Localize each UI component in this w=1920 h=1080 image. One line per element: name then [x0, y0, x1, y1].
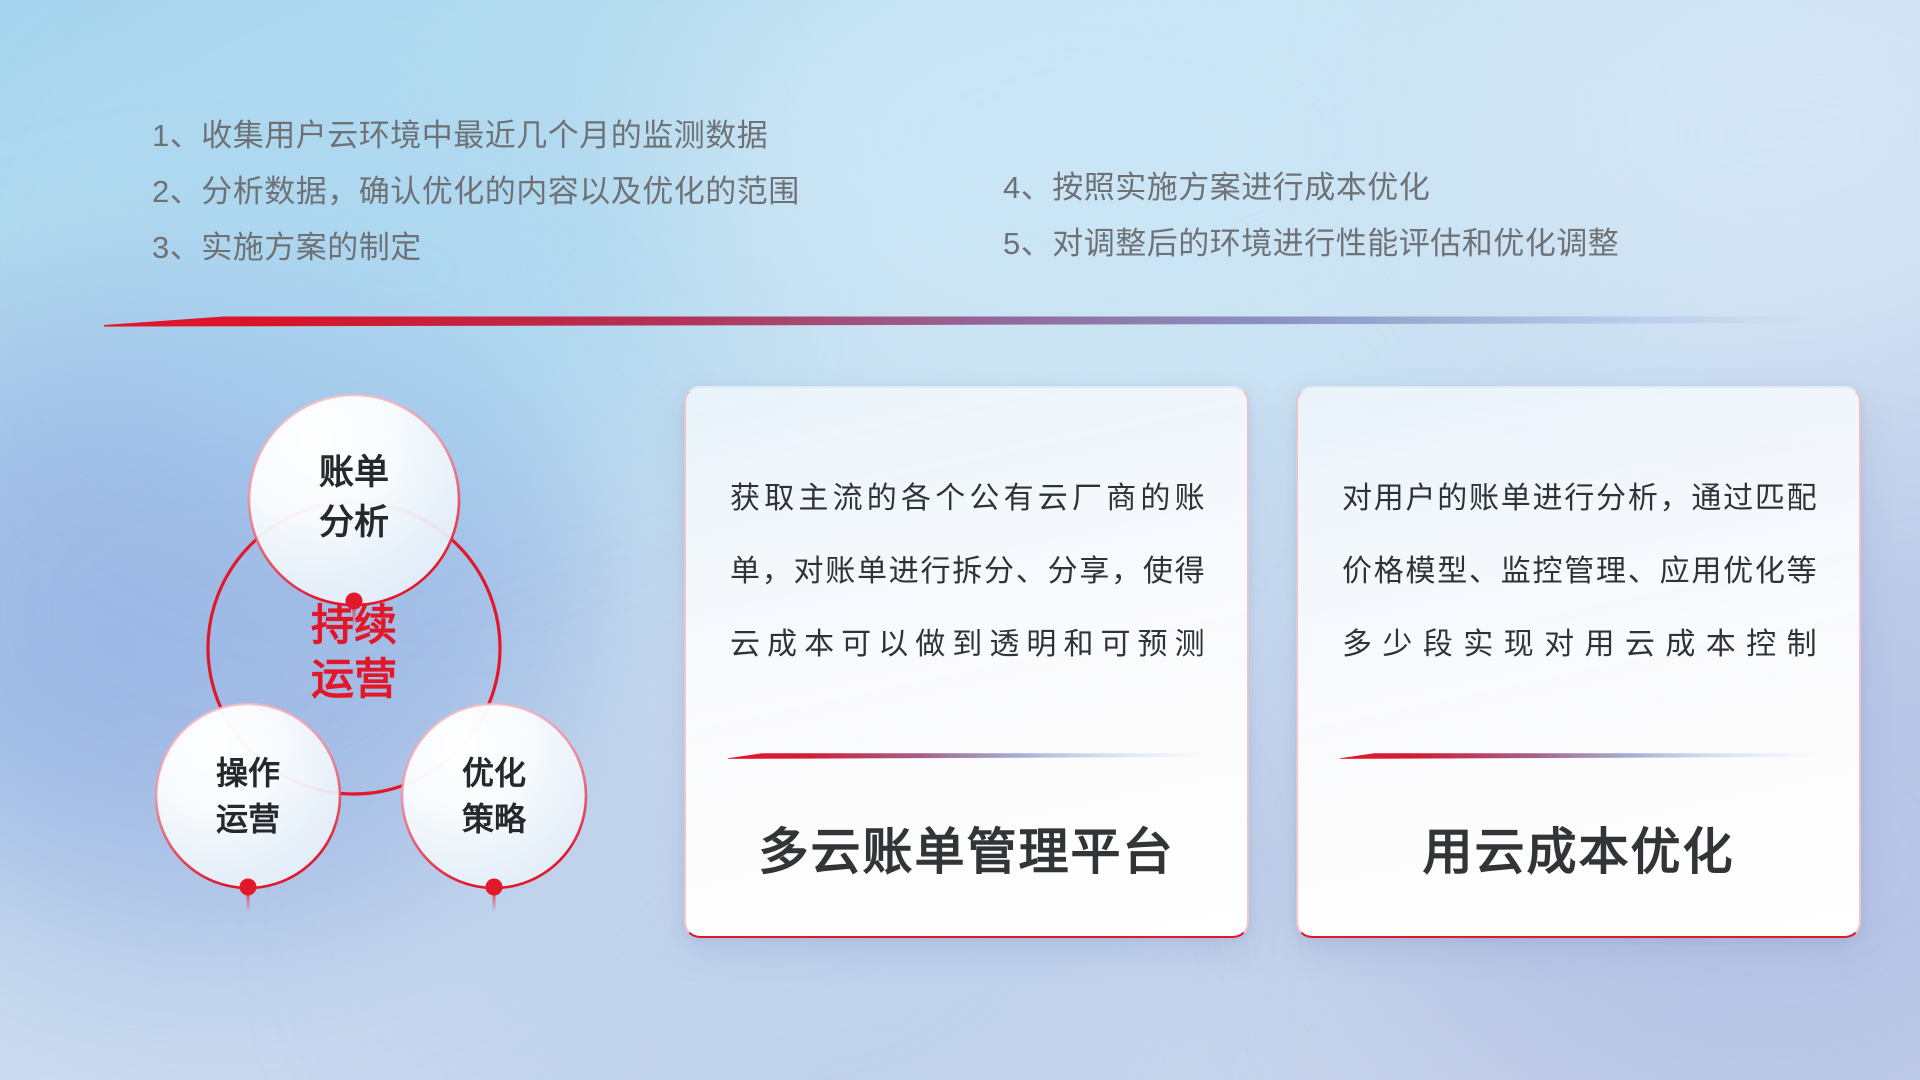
feature-card-body: 获取主流的各个公有云厂商的账单，对账单进行拆分、分享，使得云成本可以做到透明和可… — [730, 462, 1205, 681]
feature-card-title: 用云成本优化 — [1298, 812, 1859, 884]
diagram-node-left-label-2: 运营 — [216, 801, 280, 837]
step-item-4: 4、按照实施方案进行成本优化 — [1003, 160, 1619, 216]
diagram-node-top-label-2: 分析 — [319, 503, 389, 542]
slide-canvas: 1、收集用户云环境中最近几个月的监测数据 2、分析数据，确认优化的内容以及优化的… — [0, 0, 1920, 1080]
diagram-node-right-marker — [486, 879, 503, 896]
feature-card-divider — [728, 752, 1215, 759]
feature-card-multicloud-billing[interactable]: 获取主流的各个公有云厂商的账单，对账单进行拆分、分享，使得云成本可以做到透明和可… — [684, 386, 1249, 938]
continuous-operations-diagram: 账单 分析 操作 运营 优化 策略 持续 运营 — [96, 352, 656, 952]
steps-list-right: 4、按照实施方案进行成本优化 5、对调整后的环境进行性能评估和优化调整 — [1003, 160, 1619, 272]
diagram-node-top-label-1: 账单 — [319, 453, 389, 492]
diagram-center-label-1: 持续 — [311, 602, 397, 650]
step-item-3: 3、实施方案的制定 — [152, 220, 800, 276]
step-item-2: 2、分析数据，确认优化的内容以及优化的范围 — [152, 164, 800, 220]
diagram-node-left-marker — [240, 879, 257, 896]
diagram-center-label-2: 运营 — [311, 656, 397, 704]
diagram-node-left-circle — [156, 704, 340, 888]
step-item-5: 5、对调整后的环境进行性能评估和优化调整 — [1003, 216, 1619, 272]
steps-list-left: 1、收集用户云环境中最近几个月的监测数据 2、分析数据，确认优化的内容以及优化的… — [152, 108, 800, 276]
diagram-node-top[interactable]: 账单 分析 — [249, 395, 459, 628]
diagram-node-right[interactable]: 优化 策略 — [402, 704, 586, 913]
step-item-1: 1、收集用户云环境中最近几个月的监测数据 — [152, 108, 800, 164]
diagram-node-right-label-2: 策略 — [462, 801, 527, 837]
feature-card-divider — [1340, 752, 1827, 759]
header-divider — [104, 313, 1820, 327]
diagram-node-left[interactable]: 操作 运营 — [156, 704, 340, 913]
diagram-node-top-circle — [249, 395, 459, 605]
feature-card-title: 多云账单管理平台 — [686, 812, 1247, 884]
diagram-node-right-label-1: 优化 — [462, 755, 526, 791]
diagram-node-left-label-1: 操作 — [216, 755, 280, 791]
diagram-node-right-circle — [402, 704, 586, 888]
feature-card-cloud-cost-optimization[interactable]: 对用户的账单进行分析，通过匹配价格模型、监控管理、应用优化等多少段实现对用云成本… — [1296, 386, 1861, 938]
feature-card-body: 对用户的账单进行分析，通过匹配价格模型、监控管理、应用优化等多少段实现对用云成本… — [1342, 462, 1817, 681]
